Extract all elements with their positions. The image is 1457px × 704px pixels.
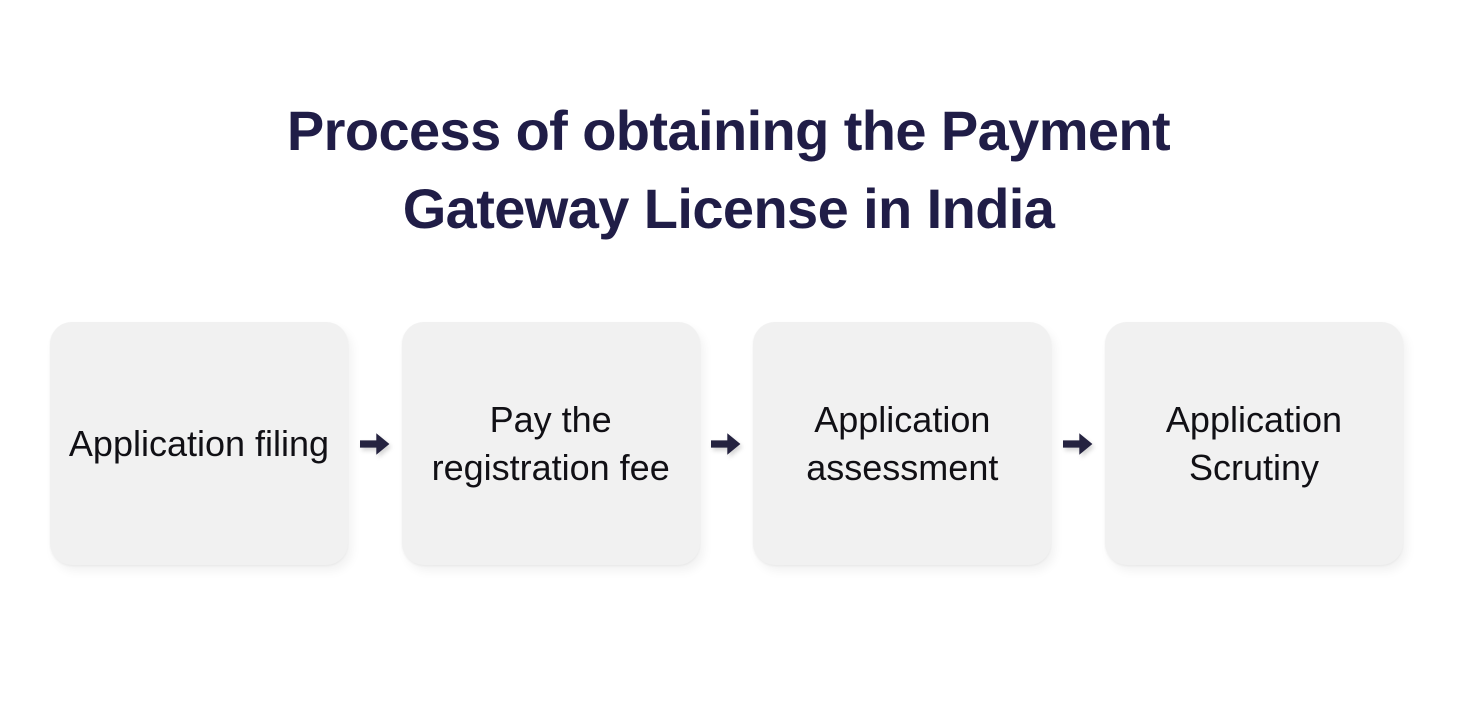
- process-step-3[interactable]: Application assessment: [753, 322, 1051, 565]
- process-step-2[interactable]: Pay the registration fee: [402, 322, 700, 565]
- page-title: Process of obtaining the Payment Gateway…: [0, 92, 1457, 248]
- process-step-3-label: Application assessment: [767, 396, 1037, 492]
- page-title-text: Process of obtaining the Payment Gateway…: [0, 92, 1457, 248]
- arrow-right-icon: [709, 427, 743, 461]
- diagram-canvas: Process of obtaining the Payment Gateway…: [0, 0, 1457, 704]
- process-step-2-label: Pay the registration fee: [416, 396, 686, 492]
- arrow-right-icon: [358, 427, 392, 461]
- process-step-1[interactable]: Application filing: [50, 322, 348, 565]
- process-step-4-label: Application Scrutiny: [1119, 396, 1389, 492]
- process-flow: Application filing Pay the registration …: [50, 322, 1403, 565]
- process-step-1-label: Application filing: [64, 420, 334, 468]
- process-step-4[interactable]: Application Scrutiny: [1105, 322, 1403, 565]
- arrow-right-icon: [1061, 427, 1095, 461]
